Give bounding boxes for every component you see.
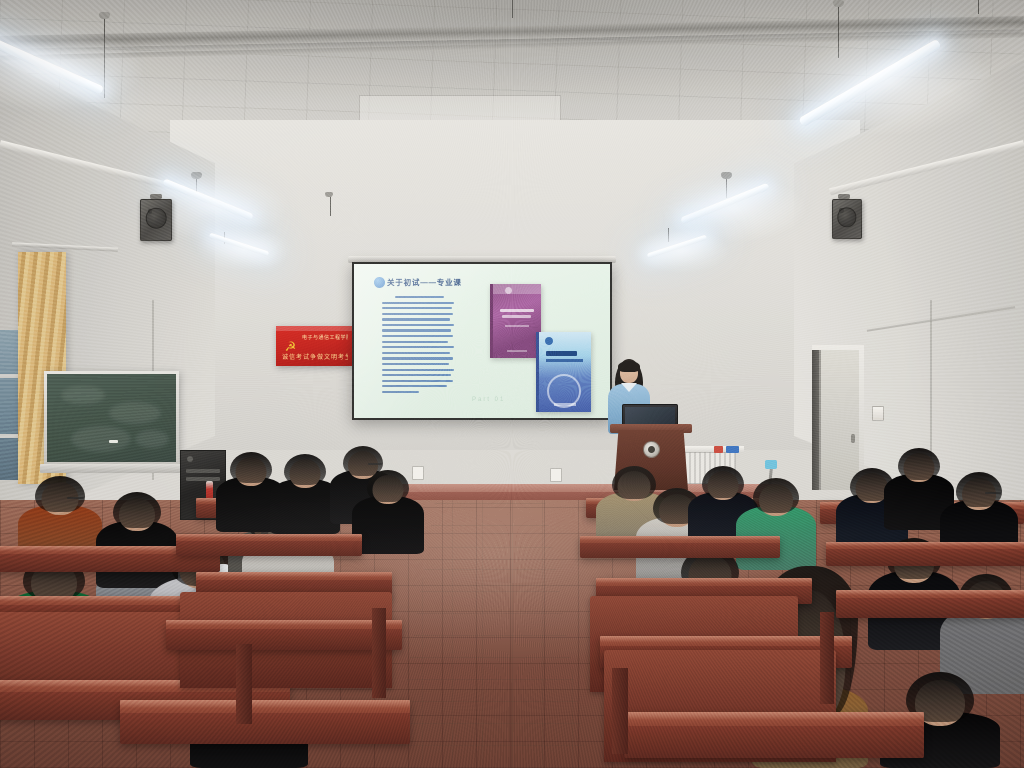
eyeglasses xyxy=(985,492,1001,494)
slide-body-text xyxy=(382,296,454,396)
cabinet-power-icon xyxy=(187,456,193,462)
chalk-piece xyxy=(109,440,118,443)
wall-outlet xyxy=(550,468,562,482)
person-hair xyxy=(898,448,940,480)
person-hair xyxy=(230,452,272,483)
light-canopy xyxy=(325,192,333,197)
light-wire xyxy=(978,0,979,14)
slide-part-label: Part 01 xyxy=(472,397,505,403)
person-hair xyxy=(35,476,85,512)
chalk-smudge xyxy=(61,386,105,404)
chalkboard-surface xyxy=(47,374,176,462)
wall-speaker-right xyxy=(832,199,862,239)
book-subtitle-bar xyxy=(505,325,529,327)
light-canopy xyxy=(721,172,732,179)
projection-screen[interactable]: 关于初试——专业课 xyxy=(352,262,612,420)
bench-leg xyxy=(612,668,628,754)
book-band xyxy=(493,284,541,294)
light-wire xyxy=(668,228,669,242)
person-hair xyxy=(956,472,1002,507)
light-wire xyxy=(512,0,513,18)
party-banner: ☭ 电子与通信工程学院 诚信考试争做文明考生 xyxy=(276,326,352,366)
ledge-item-red xyxy=(714,446,723,453)
speaker-cone-icon xyxy=(837,208,856,227)
book-publisher-bar xyxy=(507,350,526,352)
door-handle-icon[interactable] xyxy=(851,434,855,443)
person-hair xyxy=(284,454,326,485)
bench-leg xyxy=(820,612,834,704)
light-wire xyxy=(104,18,105,98)
banner-title: 电子与通信工程学院 xyxy=(302,334,348,340)
light-canopy xyxy=(833,0,844,7)
bench-leg xyxy=(372,608,386,698)
bench-desk xyxy=(836,590,1024,618)
light-wire xyxy=(838,0,839,58)
chalk-smudge xyxy=(71,426,131,452)
book-logo-icon xyxy=(545,337,553,345)
banner-subtitle: 诚信考试争做文明考生 xyxy=(282,352,348,361)
bench-desk xyxy=(176,534,362,556)
eyeglasses xyxy=(67,497,84,499)
wall-speaker-left xyxy=(140,199,172,241)
light-wire xyxy=(330,196,331,216)
ledge-item-blue xyxy=(726,446,739,453)
slide-book-blue xyxy=(536,332,591,412)
bench-leg xyxy=(236,644,252,724)
light-switch[interactable] xyxy=(872,406,884,421)
person-hair xyxy=(753,478,799,513)
person-torso xyxy=(352,496,424,554)
light-canopy xyxy=(191,172,202,179)
person-hair xyxy=(367,470,409,502)
bench-desk xyxy=(624,712,924,758)
cabinet-vent xyxy=(186,477,220,481)
book-subtitle-bar xyxy=(546,359,582,362)
mop-head-icon xyxy=(765,460,777,469)
student-dark-jacket-d xyxy=(352,470,424,554)
university-crest-icon xyxy=(643,441,660,458)
lecturer-fringe xyxy=(618,361,640,372)
slide-bullet-icon xyxy=(374,277,385,288)
bench-desk xyxy=(580,536,780,558)
chalk-smudge xyxy=(135,430,169,448)
person-hair xyxy=(113,492,161,528)
speaker-cone-icon xyxy=(146,208,167,229)
book-publisher-bar xyxy=(554,403,577,406)
bench-desk xyxy=(826,542,1024,566)
cabinet-vent xyxy=(186,469,220,473)
lecture-hall-photo: ☭ 电子与通信工程学院 诚信考试争做文明考生 关于初试——专业课 xyxy=(0,0,1024,768)
slide-title: 关于初试——专业课 xyxy=(387,277,462,288)
slide-book-purple xyxy=(490,284,541,358)
chalkboard xyxy=(44,371,179,465)
book-title-bar xyxy=(502,315,532,318)
bench-desk xyxy=(166,620,402,650)
chalk-tray xyxy=(40,464,183,473)
projected-slide: 关于初试——专业课 xyxy=(354,264,610,418)
bench-desk xyxy=(120,700,410,744)
light-canopy xyxy=(99,12,110,19)
book-title-bar xyxy=(546,351,577,356)
light-wire xyxy=(726,176,727,198)
banner-top-strip xyxy=(276,326,352,331)
chalk-smudge xyxy=(109,402,161,424)
book-title-bar xyxy=(500,309,535,312)
